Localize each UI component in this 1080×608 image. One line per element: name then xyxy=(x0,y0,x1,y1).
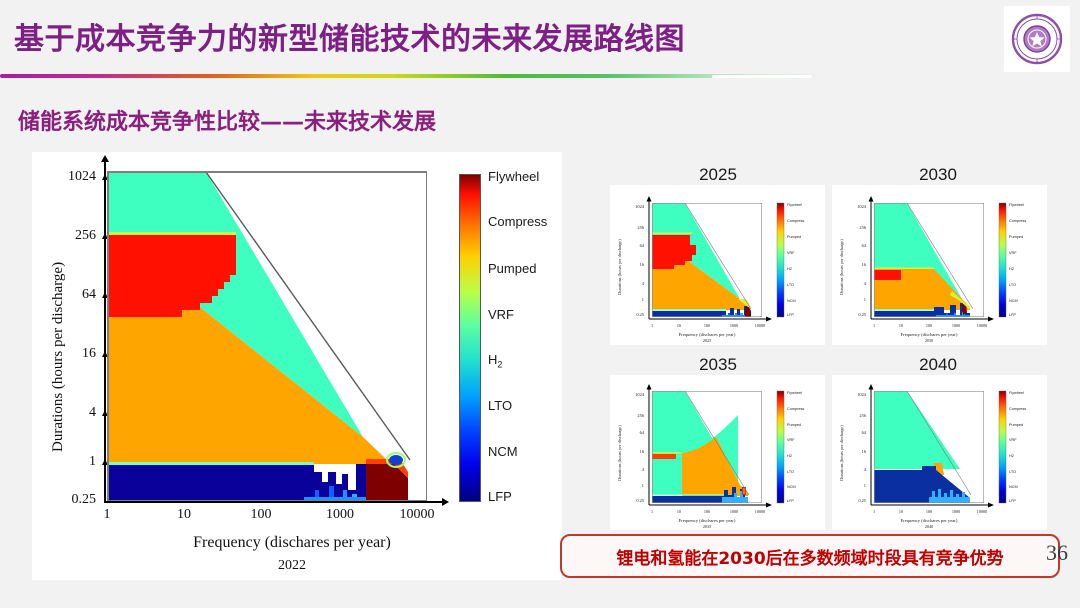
x-axis-arrow-icon xyxy=(442,498,449,506)
mini-2030-svg: Durations (hours per discharge) 1024 256… xyxy=(832,185,1047,345)
svg-text:0.25: 0.25 xyxy=(636,498,644,503)
svg-text:1: 1 xyxy=(864,297,866,302)
svg-text:1: 1 xyxy=(642,483,644,488)
svg-text:Flywheel: Flywheel xyxy=(787,391,802,395)
slide-root: 基于成本竞争力的新型储能技术的未来发展路线图 储能系统成本竞争性比较——未来技术… xyxy=(0,0,1080,608)
svg-text:10000: 10000 xyxy=(755,509,765,514)
svg-text:10: 10 xyxy=(899,509,903,514)
svg-text:10: 10 xyxy=(899,323,903,328)
svg-text:Pumped: Pumped xyxy=(787,235,801,239)
svg-text:Durations (hours per discharge: Durations (hours per discharge) xyxy=(839,239,844,295)
svg-text:LTO: LTO xyxy=(787,283,794,287)
svg-text:10: 10 xyxy=(677,509,681,514)
svg-text:256: 256 xyxy=(637,225,644,230)
svg-text:2040: 2040 xyxy=(925,524,933,529)
title-divider-rule xyxy=(0,74,820,78)
svg-text:2025: 2025 xyxy=(703,338,711,343)
svg-text:100: 100 xyxy=(926,323,932,328)
x-axis-line xyxy=(104,501,444,503)
section-subtitle: 储能系统成本竞争性比较——未来技术发展 xyxy=(18,104,436,136)
colorbar-label-lto: LTO xyxy=(488,398,512,413)
svg-text:10: 10 xyxy=(677,323,681,328)
svg-text:Durations (hours per discharge: Durations (hours per discharge) xyxy=(839,425,844,481)
svg-text:Compress: Compress xyxy=(787,407,804,411)
svg-text:Compress: Compress xyxy=(787,219,804,223)
svg-text:256: 256 xyxy=(637,413,644,418)
svg-text:H2: H2 xyxy=(1009,454,1014,458)
mini-chart-2040: Durations (hours per discharge) 1024 256… xyxy=(832,375,1047,530)
xtick-100: 100 xyxy=(243,507,279,523)
svg-text:0.25: 0.25 xyxy=(858,312,866,317)
mini-2035-svg: Durations (hours per discharge) 1024 256… xyxy=(610,375,825,530)
svg-text:LFP: LFP xyxy=(1009,499,1016,503)
svg-text:Durations (hours per discharge: Durations (hours per discharge) xyxy=(617,239,622,295)
svg-text:1: 1 xyxy=(651,323,653,328)
main-chart-2022: Durations (hours per discharge) 1024 256… xyxy=(32,152,562,580)
svg-text:NCM: NCM xyxy=(1009,485,1018,489)
seal-icon xyxy=(1009,11,1065,67)
y-axis-arrow-icon xyxy=(101,155,109,162)
svg-text:1000: 1000 xyxy=(730,509,738,514)
svg-text:Frequency (dischares per year): Frequency (dischares per year) xyxy=(901,518,958,523)
ytick-64: 64 xyxy=(44,287,96,303)
svg-text:Flywheel: Flywheel xyxy=(787,203,802,207)
mini-chart-2025: Durations (hours per discharge) 1024 256… xyxy=(610,185,825,345)
svg-text:VRF: VRF xyxy=(1009,438,1017,442)
main-heatmap-svg xyxy=(108,172,427,501)
svg-text:Frequency (dischares per year): Frequency (dischares per year) xyxy=(679,332,736,337)
svg-text:1: 1 xyxy=(864,483,866,488)
svg-text:1024: 1024 xyxy=(857,392,867,397)
svg-text:NCM: NCM xyxy=(787,299,796,303)
title-divider-tail xyxy=(712,75,812,78)
svg-text:VRF: VRF xyxy=(787,438,795,442)
mini-chart-title-2035: 2035 xyxy=(648,355,788,375)
xtick-10000: 10000 xyxy=(392,507,442,523)
svg-text:LFP: LFP xyxy=(787,499,794,503)
colorbar-label-h2: H2 xyxy=(488,352,502,370)
svg-text:VRF: VRF xyxy=(787,251,795,255)
mini-chart-title-2025: 2025 xyxy=(648,165,788,185)
conclusion-callout-box: 锂电和氢能在2030后在多数频域时段具有竞争优势 xyxy=(560,534,1060,578)
mini-chart-title-2030: 2030 xyxy=(868,165,1008,185)
main-colorbar xyxy=(459,174,481,502)
svg-text:1: 1 xyxy=(873,323,875,328)
conclusion-callout-text: 锂电和氢能在2030后在多数频域时段具有竞争优势 xyxy=(616,544,1003,569)
svg-text:1024: 1024 xyxy=(857,204,867,209)
svg-text:Pumped: Pumped xyxy=(787,423,801,427)
svg-text:VRF: VRF xyxy=(1009,251,1017,255)
xtick-1: 1 xyxy=(89,507,125,523)
mini-chart-title-2040: 2040 xyxy=(868,355,1008,375)
y-axis-line xyxy=(104,162,106,502)
svg-text:Flywheel: Flywheel xyxy=(1009,391,1024,395)
svg-text:0.25: 0.25 xyxy=(636,312,644,317)
mini-chart-2035: Durations (hours per discharge) 1024 256… xyxy=(610,375,825,530)
colorbar-label-ncm: NCM xyxy=(488,444,518,459)
colorbar-label-flywheel: Flywheel xyxy=(488,169,539,184)
svg-text:Compress: Compress xyxy=(1009,219,1026,223)
page-number: 36 xyxy=(1046,540,1068,566)
svg-text:1024: 1024 xyxy=(635,204,645,209)
svg-text:256: 256 xyxy=(859,225,866,230)
svg-text:2030: 2030 xyxy=(925,338,933,343)
svg-text:H2: H2 xyxy=(787,454,792,458)
page-title: 基于成本竞争力的新型储能技术的未来发展路线图 xyxy=(14,14,685,58)
ytick-16: 16 xyxy=(44,346,96,362)
svg-text:256: 256 xyxy=(859,413,866,418)
svg-text:Pumped: Pumped xyxy=(1009,235,1023,239)
svg-text:Frequency (dischares per year): Frequency (dischares per year) xyxy=(679,518,736,523)
svg-text:2035: 2035 xyxy=(703,524,711,529)
svg-text:1000: 1000 xyxy=(730,323,738,328)
svg-text:NCM: NCM xyxy=(1009,299,1018,303)
colorbar-label-lfp: LFP xyxy=(488,489,512,504)
svg-text:Flywheel: Flywheel xyxy=(1009,203,1024,207)
svg-text:1000: 1000 xyxy=(952,323,960,328)
svg-text:Durations (hours per discharge: Durations (hours per discharge) xyxy=(617,425,622,481)
ytick-025: 0.25 xyxy=(38,492,96,508)
svg-text:LFP: LFP xyxy=(787,313,794,317)
xtick-1000: 1000 xyxy=(318,507,362,523)
svg-text:LFP: LFP xyxy=(1009,313,1016,317)
main-plot-area xyxy=(107,171,427,501)
svg-text:NCM: NCM xyxy=(787,485,796,489)
svg-text:1: 1 xyxy=(873,509,875,514)
ytick-256: 256 xyxy=(44,228,96,244)
svg-text:1024: 1024 xyxy=(635,392,645,397)
mini-2040-svg: Durations (hours per discharge) 1024 256… xyxy=(832,375,1047,530)
svg-text:Pumped: Pumped xyxy=(1009,423,1023,427)
svg-text:1: 1 xyxy=(642,297,644,302)
ytick-4: 4 xyxy=(44,405,96,421)
colorbar-label-compress: Compress xyxy=(488,214,547,229)
ytick-1: 1 xyxy=(44,454,96,470)
mini-2025-svg: Durations (hours per discharge) 1024 256… xyxy=(610,185,825,345)
ytick-1024: 1024 xyxy=(44,169,96,185)
svg-text:Compress: Compress xyxy=(1009,407,1026,411)
svg-text:0.25: 0.25 xyxy=(858,498,866,503)
svg-text:LTO: LTO xyxy=(1009,283,1016,287)
svg-text:Frequency (dischares per year): Frequency (dischares per year) xyxy=(901,332,958,337)
svg-text:100: 100 xyxy=(704,509,710,514)
university-seal-logo xyxy=(1004,6,1070,72)
colorbar-label-vrf: VRF xyxy=(488,307,514,322)
svg-text:H2: H2 xyxy=(787,267,792,271)
svg-text:1000: 1000 xyxy=(952,509,960,514)
svg-text:10000: 10000 xyxy=(977,509,987,514)
main-chart-xlabel: Frequency (dischares per year) xyxy=(172,534,412,552)
svg-text:LTO: LTO xyxy=(1009,470,1016,474)
svg-text:1: 1 xyxy=(651,509,653,514)
svg-text:10000: 10000 xyxy=(755,323,765,328)
main-chart-year-label: 2022 xyxy=(232,558,352,574)
xtick-10: 10 xyxy=(166,507,202,523)
svg-text:10000: 10000 xyxy=(977,323,987,328)
colorbar-label-pumped: Pumped xyxy=(488,261,536,276)
mini-chart-2030: Durations (hours per discharge) 1024 256… xyxy=(832,185,1047,345)
svg-text:100: 100 xyxy=(926,509,932,514)
svg-text:H2: H2 xyxy=(1009,267,1014,271)
svg-text:100: 100 xyxy=(704,323,710,328)
svg-text:LTO: LTO xyxy=(787,470,794,474)
